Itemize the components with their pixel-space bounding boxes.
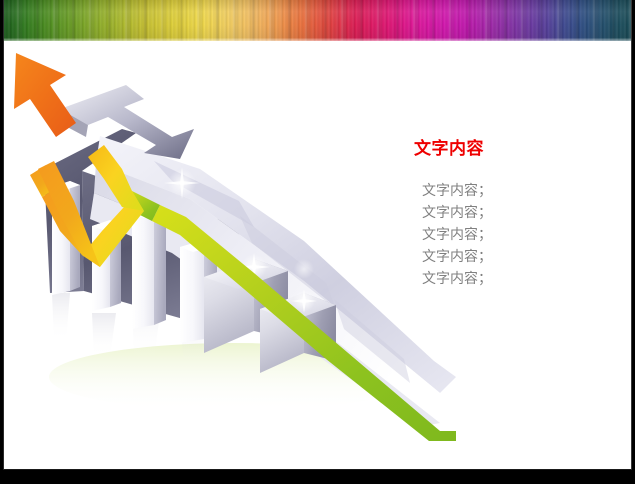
body-line-2: 文字内容；: [422, 202, 623, 224]
orange-arrow-head: [14, 53, 76, 137]
body-line-1: 文字内容；: [422, 180, 623, 202]
body-line-3: 文字内容；: [422, 224, 623, 246]
body-line-4: 文字内容；: [422, 246, 623, 268]
body-line-5: 文字内容；: [422, 268, 623, 290]
heading-text: 文字内容: [414, 138, 623, 160]
rainbow-shading-overlay: [4, 0, 632, 41]
slide-canvas: 文字内容 文字内容； 文字内容； 文字内容； 文字内容； 文字内容；: [3, 0, 632, 470]
text-content-block: 文字内容 文字内容； 文字内容； 文字内容； 文字内容； 文字内容；: [408, 138, 623, 290]
rainbow-stripe-band: [4, 0, 632, 41]
slide-root: 文字内容 文字内容； 文字内容； 文字内容； 文字内容； 文字内容；: [0, 0, 635, 484]
bottom-black-band: [0, 470, 635, 484]
chart-illustration: [4, 41, 474, 441]
